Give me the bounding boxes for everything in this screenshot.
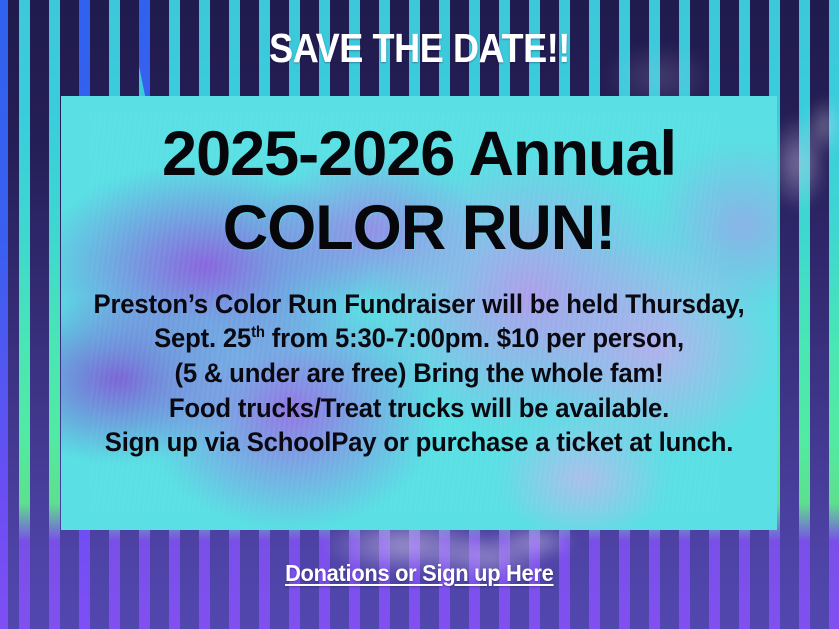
body-line-intro: Preston’s Color Run Fundraiser will be h… — [85, 287, 752, 322]
body-line-signup: Sign up via SchoolPay or purchase a tick… — [85, 425, 752, 460]
event-details-card: 2025-2026 Annual COLOR RUN! Preston’s Co… — [61, 96, 777, 530]
body-line-free: (5 & under are free) Bring the whole fam… — [85, 356, 752, 391]
date-ordinal-suffix: th — [251, 324, 265, 341]
body-line-food: Food trucks/Treat trucks will be availab… — [85, 391, 752, 426]
body-line-date: Sept. 25th from 5:30-7:00pm. $10 per per… — [85, 321, 752, 356]
card-content: 2025-2026 Annual COLOR RUN! Preston’s Co… — [61, 96, 777, 530]
save-the-date-heading: SAVE THE DATE!! — [50, 28, 788, 69]
stripe-accent-blue-1 — [0, 0, 8, 629]
event-title-year: 2025-2026 Annual — [75, 122, 763, 186]
flyer-poster: SAVE THE DATE!! 2025-2026 Annual COLOR R… — [0, 0, 839, 629]
date-prefix: Sept. 25th — [154, 323, 265, 353]
event-title-name: COLOR RUN! — [75, 196, 763, 260]
donations-signup-link[interactable]: Donations or Sign up Here — [285, 560, 553, 587]
event-body-copy: Preston’s Color Run Fundraiser will be h… — [85, 287, 752, 461]
cta-row: Donations or Sign up Here — [0, 560, 839, 587]
date-suffix: from 5:30-7:00pm. $10 per person, — [265, 323, 684, 353]
